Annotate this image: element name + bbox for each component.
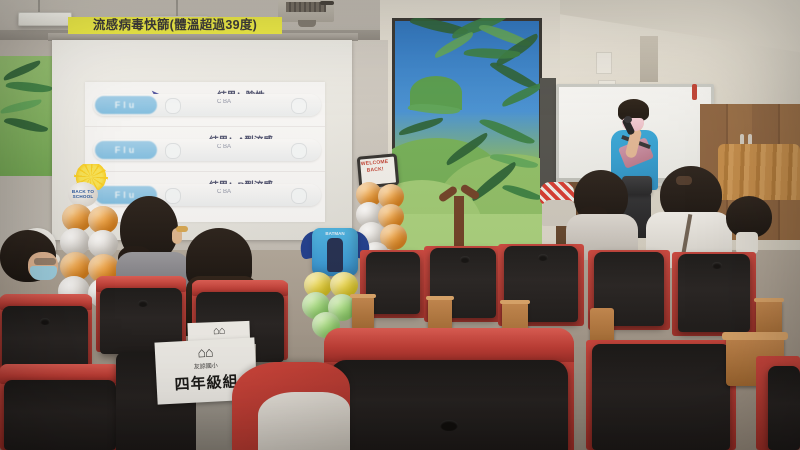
armrest-top	[722, 332, 788, 340]
projector-cable	[320, 1, 334, 5]
seat-back[interactable]	[330, 360, 568, 450]
batman-label: BATMAN	[318, 231, 352, 236]
mural-leaf	[4, 113, 49, 137]
seat-vent	[138, 300, 148, 307]
test-strip-row: 結果：B型流感 Flu C BA	[85, 172, 325, 216]
strip-window	[165, 143, 181, 159]
light-switch-panel[interactable]	[596, 52, 612, 74]
strip-sub-label: C BA	[189, 99, 259, 105]
mural-left-fragment	[0, 56, 54, 176]
strip-brand-label: Flu	[95, 96, 157, 114]
seat-back[interactable]	[4, 380, 116, 450]
seat-vent	[40, 318, 50, 325]
test-strip-row: 結果：A型流感 Flu C BA	[85, 127, 325, 172]
seat-back[interactable]	[768, 366, 800, 450]
test-strip-row: 結果：陰性 ➤ Flu C BA	[85, 82, 325, 127]
photo-scene: 結果：陰性 ➤ Flu C BA 結果：A型流感 Flu C BA	[0, 0, 800, 450]
microphone-head-icon	[624, 116, 632, 123]
seat-vent	[460, 256, 470, 263]
seat-headrest	[324, 328, 574, 362]
armrest-top	[350, 294, 376, 298]
mural-leaf	[2, 60, 43, 81]
strip-window	[291, 98, 307, 114]
wall-speaker	[640, 36, 658, 82]
welcome-line-2: BACK!	[366, 166, 384, 173]
mural-leaf	[0, 99, 42, 114]
strip-window	[165, 188, 181, 204]
strip-window	[291, 143, 307, 159]
strip-sub-label: C BA	[189, 144, 259, 150]
strip-brand-label: Flu	[95, 141, 157, 159]
door-frame	[540, 78, 556, 188]
test-strip: Flu C BA	[93, 139, 321, 161]
face-mask	[30, 266, 57, 280]
mask-ear-loop	[176, 226, 188, 232]
seat-back[interactable]	[592, 344, 730, 450]
white-cloth	[258, 392, 350, 450]
strip-window	[291, 188, 307, 204]
back-to-school-text: BACK TO SCHOOL	[70, 189, 96, 199]
slide-content-panel: 結果：陰性 ➤ Flu C BA 結果：A型流感 Flu C BA	[85, 82, 325, 222]
armrest	[352, 296, 374, 330]
welcome-line-1: WELCOME	[361, 159, 389, 167]
welcome-back-text: WELCOME BACK!	[359, 159, 390, 176]
ceiling-light-fixture	[18, 12, 72, 26]
test-strip: Flu C BA	[93, 94, 321, 116]
slide-title: 流感病毒快篩(體溫超過39度)	[68, 17, 282, 34]
test-strip: Flu C BA	[93, 184, 321, 206]
strip-window	[165, 98, 181, 114]
batman-figure	[327, 238, 343, 272]
seat-vent	[712, 262, 722, 269]
tan-curtain	[718, 144, 800, 200]
armrest-top	[426, 296, 454, 300]
bamboo-forest-mural	[392, 18, 542, 264]
mural-leaf	[5, 77, 52, 96]
armrest-top	[500, 300, 530, 304]
mural-leaf	[479, 113, 535, 150]
eyeglasses-icon	[34, 258, 56, 265]
seat-back[interactable]	[366, 252, 420, 314]
hair-clip-icon	[676, 176, 692, 185]
school-logo-icon: ⌂⌂	[188, 324, 250, 338]
seat-vent	[440, 420, 458, 431]
mural-leaf	[398, 117, 445, 135]
armrest-top	[754, 298, 784, 302]
whiteboard-marker[interactable]	[692, 84, 697, 100]
seat-vent	[538, 254, 548, 261]
mural-leaf	[500, 83, 542, 107]
projector-lens	[298, 20, 316, 27]
water-bottle	[736, 232, 758, 254]
strip-sub-label: C BA	[189, 189, 259, 195]
